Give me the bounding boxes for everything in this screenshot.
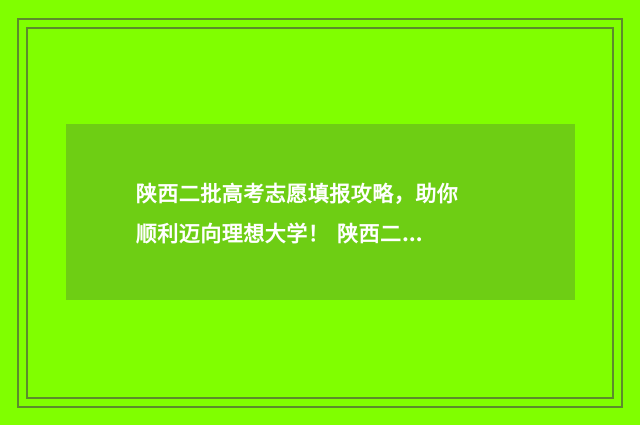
headline-panel: 陕西二批高考志愿填报攻略，助你 顺利迈向理想大学！ 陕西二… — [66, 124, 575, 300]
headline-text: 陕西二批高考志愿填报攻略，助你 顺利迈向理想大学！ 陕西二… — [136, 174, 556, 254]
page-canvas: 陕西二批高考志愿填报攻略，助你 顺利迈向理想大学！ 陕西二… — [0, 0, 640, 425]
